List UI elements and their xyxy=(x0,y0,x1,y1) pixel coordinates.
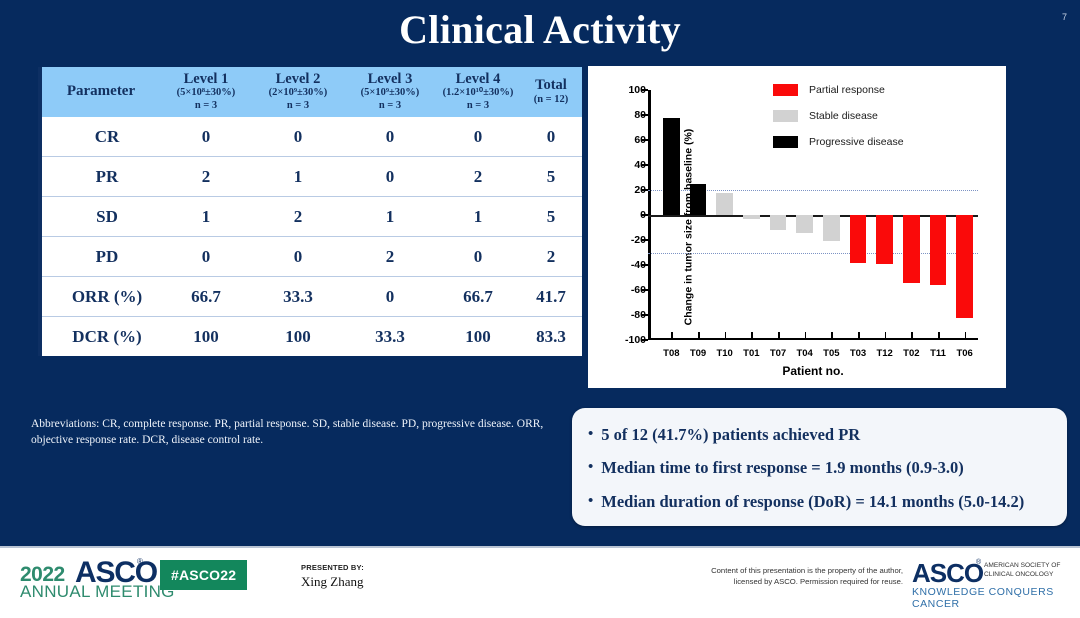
chart-y-tick xyxy=(642,314,648,316)
cell-total: 5 xyxy=(520,197,582,237)
cell-level1: 1 xyxy=(160,197,252,237)
table-header-parameter: Parameter xyxy=(42,67,160,117)
cell-total: 41.7 xyxy=(520,277,582,317)
chart-legend-item: Progressive disease xyxy=(773,132,904,151)
chart-y-tick xyxy=(642,114,648,116)
chart-x-tick-label: T06 xyxy=(956,348,972,359)
chart-y-tick xyxy=(642,89,648,91)
asco-annual-meeting: ANNUAL MEETING xyxy=(20,582,175,602)
chart-x-tick xyxy=(885,332,887,338)
row-label: PD xyxy=(42,237,160,277)
clinical-activity-table: Parameter Level 1 (5×10⁸±30%) n = 3 Leve… xyxy=(38,67,572,356)
cell-level3: 1 xyxy=(344,197,436,237)
chart-bar xyxy=(796,215,813,233)
bullet-icon: • xyxy=(588,458,593,477)
table-body: CR 0 0 0 0 0 PR 2 1 0 2 5 SD 1 xyxy=(42,117,582,357)
cell-total: 83.3 xyxy=(520,317,582,357)
chart-x-tick-label: T02 xyxy=(903,348,919,359)
chart-x-tick xyxy=(751,332,753,338)
chart-bar xyxy=(930,215,947,285)
table-row: SD 1 2 1 1 5 xyxy=(42,197,582,237)
chart-y-tick xyxy=(642,164,648,166)
chart-y-tick xyxy=(642,139,648,141)
chart-x-tick-label: T05 xyxy=(823,348,839,359)
row-label: ORR (%) xyxy=(42,277,160,317)
slide-number: 7 xyxy=(1062,12,1067,22)
abbreviations-note: Abbreviations: CR, complete response. PR… xyxy=(31,417,571,448)
asco-footer-tagline: KNOWLEDGE CONQUERS CANCER xyxy=(912,586,1080,610)
row-label: SD xyxy=(42,197,160,237)
chart-x-tick xyxy=(911,332,913,338)
legal-notice: Content of this presentation is the prop… xyxy=(688,565,903,587)
chart-x-tick xyxy=(831,332,833,338)
chart-bar xyxy=(903,215,920,283)
cell-level1: 100 xyxy=(160,317,252,357)
cell-level3: 0 xyxy=(344,157,436,197)
title-bar: Clinical Activity 7 xyxy=(0,0,1080,60)
table-header-level4: Level 4 (1.2×10¹⁰±30%) n = 3 xyxy=(436,67,520,117)
chart-x-tick-label: T01 xyxy=(743,348,759,359)
cell-level2: 100 xyxy=(252,317,344,357)
list-item: • Median duration of response (DoR) = 14… xyxy=(572,485,1067,519)
chart-y-tick xyxy=(642,239,648,241)
cell-level4: 0 xyxy=(436,117,520,157)
chart-x-tick-label: T04 xyxy=(796,348,812,359)
chart-x-tick xyxy=(725,332,727,338)
chart-x-tick xyxy=(938,332,940,338)
chart-x-tick xyxy=(805,332,807,338)
cell-total: 5 xyxy=(520,157,582,197)
chart-legend-item: Stable disease xyxy=(773,106,904,125)
hashtag-badge: #ASCO22 xyxy=(160,560,247,590)
chart-bar xyxy=(663,118,680,216)
chart-y-tick xyxy=(642,264,648,266)
table-row: PD 0 0 2 0 2 xyxy=(42,237,582,277)
chart-bar xyxy=(876,215,893,264)
chart-x-tick-label: T10 xyxy=(716,348,732,359)
chart-x-tick-label: T09 xyxy=(690,348,706,359)
page-title: Clinical Activity xyxy=(0,6,1080,53)
cell-level1: 0 xyxy=(160,117,252,157)
cell-level4: 100 xyxy=(436,317,520,357)
chart-x-tick-label: T03 xyxy=(850,348,866,359)
chart-legend-swatch xyxy=(773,84,798,96)
chart-x-tick-labels: T08T09T10T01T07T04T05T03T12T02T11T06 xyxy=(648,348,978,362)
list-item: • Median time to first response = 1.9 mo… xyxy=(572,452,1067,486)
bullet-text: Median time to first response = 1.9 mont… xyxy=(601,458,963,479)
registered-mark-icon: ® xyxy=(976,559,981,566)
chart-y-tick xyxy=(642,289,648,291)
waterfall-chart: Change in tumor size from baseline (%) 1… xyxy=(588,66,1006,388)
chart-x-tick xyxy=(698,332,700,338)
cell-level1: 66.7 xyxy=(160,277,252,317)
chart-legend-swatch xyxy=(773,136,798,148)
chart-x-tick xyxy=(778,332,780,338)
cell-level1: 2 xyxy=(160,157,252,197)
row-label: CR xyxy=(42,117,160,157)
chart-y-tick xyxy=(642,189,648,191)
cell-level3: 33.3 xyxy=(344,317,436,357)
chart-x-tick xyxy=(858,332,860,338)
chart-bar xyxy=(956,215,973,318)
chart-legend-label: Partial response xyxy=(809,84,885,96)
cell-level2: 33.3 xyxy=(252,277,344,317)
chart-legend: Partial responseStable diseaseProgressiv… xyxy=(773,80,904,158)
registered-mark-icon: ® xyxy=(137,557,143,566)
chart-x-tick xyxy=(671,332,673,338)
bullet-text: 5 of 12 (41.7%) patients achieved PR xyxy=(601,425,860,446)
cell-level3: 2 xyxy=(344,237,436,277)
bullet-icon: • xyxy=(588,425,593,444)
cell-level2: 1 xyxy=(252,157,344,197)
table-header-row: Parameter Level 1 (5×10⁸±30%) n = 3 Leve… xyxy=(42,67,582,117)
table-row: PR 2 1 0 2 5 xyxy=(42,157,582,197)
cell-level2: 2 xyxy=(252,197,344,237)
cell-level4: 0 xyxy=(436,237,520,277)
slide-root: Clinical Activity 7 Parameter Level 1 (5… xyxy=(0,0,1080,618)
chart-x-tick-label: T08 xyxy=(663,348,679,359)
presented-by-label: PRESENTED BY: xyxy=(301,563,364,572)
cell-level4: 2 xyxy=(436,157,520,197)
table-row: DCR (%) 100 100 33.3 100 83.3 xyxy=(42,317,582,357)
chart-bar xyxy=(770,215,787,230)
chart-zero-line xyxy=(648,215,978,217)
chart-y-tick xyxy=(642,339,648,341)
cell-level3: 0 xyxy=(344,117,436,157)
chart-y-tick xyxy=(642,214,648,216)
chart-x-tick-label: T12 xyxy=(876,348,892,359)
bullet-text: Median duration of response (DoR) = 14.1… xyxy=(601,492,1024,513)
chart-bar xyxy=(850,215,867,263)
cell-level2: 0 xyxy=(252,237,344,277)
chart-x-tick-label: T07 xyxy=(770,348,786,359)
cell-level4: 1 xyxy=(436,197,520,237)
asco-footer-subtitle: AMERICAN SOCIETY OF CLINICAL ONCOLOGY xyxy=(984,562,1080,580)
chart-legend-item: Partial response xyxy=(773,80,904,99)
chart-bar xyxy=(716,193,733,216)
asco-footer-logo: ASCO xyxy=(912,558,983,589)
table-header-total: Total (n = 12) xyxy=(520,67,582,117)
cell-level4: 66.7 xyxy=(436,277,520,317)
chart-x-tick-label: T11 xyxy=(930,348,946,359)
chart-bar xyxy=(823,215,840,241)
table-row: ORR (%) 66.7 33.3 0 66.7 41.7 xyxy=(42,277,582,317)
table-row: CR 0 0 0 0 0 xyxy=(42,117,582,157)
chart-legend-label: Stable disease xyxy=(809,110,878,122)
table-header-level3: Level 3 (5×10⁹±30%) n = 3 xyxy=(344,67,436,117)
cell-level2: 0 xyxy=(252,117,344,157)
chart-legend-label: Progressive disease xyxy=(809,136,904,148)
cell-level1: 0 xyxy=(160,237,252,277)
chart-reference-line xyxy=(648,253,978,254)
cell-total: 2 xyxy=(520,237,582,277)
table-header-level1: Level 1 (5×10⁸±30%) n = 3 xyxy=(160,67,252,117)
chart-x-axis-title: Patient no. xyxy=(648,364,978,378)
row-label: PR xyxy=(42,157,160,197)
bullet-icon: • xyxy=(588,492,593,511)
chart-bar xyxy=(743,215,760,219)
key-findings-box: • 5 of 12 (41.7%) patients achieved PR •… xyxy=(572,408,1067,526)
row-label: DCR (%) xyxy=(42,317,160,357)
chart-legend-swatch xyxy=(773,110,798,122)
cell-level3: 0 xyxy=(344,277,436,317)
cell-total: 0 xyxy=(520,117,582,157)
table-header-level2: Level 2 (2×10⁹±30%) n = 3 xyxy=(252,67,344,117)
presenter-name: Xing Zhang xyxy=(301,574,363,590)
chart-y-ticks: 100806040200-20-40-60-80-100 xyxy=(602,66,646,388)
chart-x-tick xyxy=(965,332,967,338)
list-item: • 5 of 12 (41.7%) patients achieved PR xyxy=(572,418,1067,452)
chart-bar xyxy=(690,184,707,215)
